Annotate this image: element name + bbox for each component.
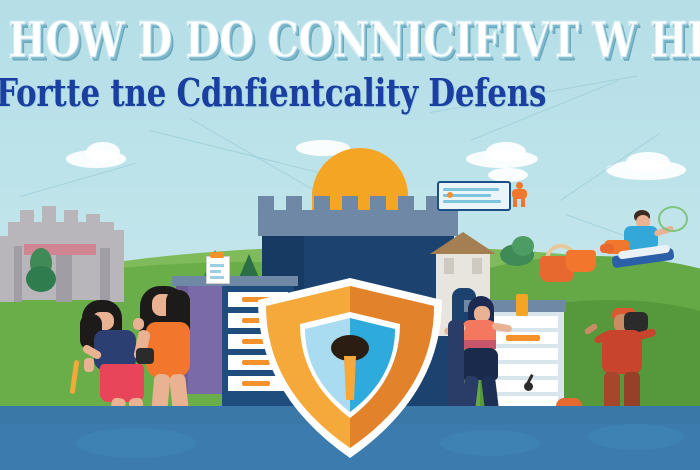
cabinet-drawer[interactable] [490, 348, 558, 360]
floating-info-panel[interactable] [437, 181, 511, 211]
headline-block: HOW D DO CONNICIFIVT W HK Fortte tne Cdn… [0, 0, 700, 125]
amber-bottle-prop [516, 294, 528, 316]
pool-left [76, 428, 196, 458]
bush-prop-4 [512, 236, 534, 256]
bush-prop-2 [26, 266, 56, 292]
cabinet-drawer[interactable] [490, 364, 558, 376]
pool-right [588, 424, 684, 450]
headline-line-1: HOW D DO CONNICIFIVT W HK [8, 14, 698, 68]
central-shield [252, 276, 448, 462]
pool-center [440, 430, 540, 456]
cloud-far-right-b [626, 152, 670, 172]
cloud-right-b [486, 142, 526, 162]
headline-line-2: Fortte tne Cdnfientcality Defens [0, 72, 700, 115]
poster-illustration: HOW D DO CONNICIFIVT W HK Fortte tne Cdn… [0, 0, 700, 470]
kite-string [658, 206, 688, 232]
cloud-left-b [86, 142, 120, 162]
fortress-battlement [258, 210, 458, 236]
panel-marker-dot [447, 192, 453, 198]
cloud-panel-top [488, 168, 528, 182]
